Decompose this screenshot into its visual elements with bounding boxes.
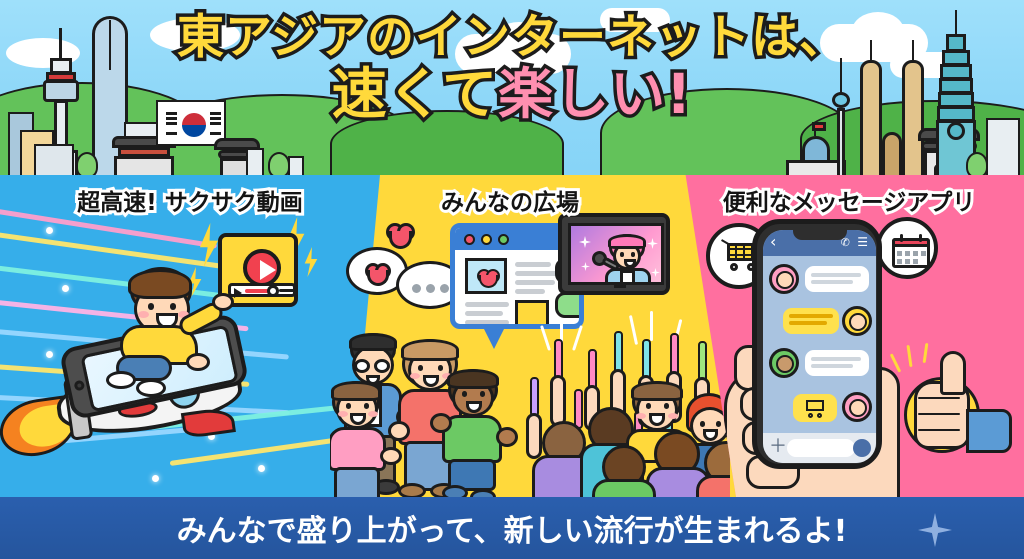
- send-icon[interactable]: [853, 439, 871, 457]
- chat-message-bubble[interactable]: [783, 308, 839, 334]
- boy-hand: [212, 293, 234, 311]
- boy-hand: [186, 353, 210, 371]
- tv-icon[interactable]: [558, 213, 670, 295]
- sparkle-icon: [581, 262, 590, 271]
- sleeve: [966, 409, 1012, 453]
- shopping-cart-icon: [803, 400, 827, 418]
- sparkle-ray: [540, 325, 551, 351]
- chat-avatar[interactable]: [769, 264, 799, 294]
- panel-3-heading: 便利なメッセージアプリ: [674, 183, 1024, 217]
- title-line-1: 東アジアのインターネットは、: [0, 14, 1024, 62]
- glasses-icon: [354, 359, 370, 373]
- heart-icon: [386, 223, 416, 251]
- window-dot-red[interactable]: [464, 234, 475, 245]
- office-building: [34, 144, 74, 178]
- chat-input[interactable]: [787, 439, 855, 457]
- footer-text: みんなで盛り上がって、新しい流行が生まれるよ!: [177, 506, 848, 550]
- menu-icon[interactable]: ☰: [857, 235, 868, 249]
- play-button-icon[interactable]: [243, 249, 281, 287]
- window-dot-green[interactable]: [498, 234, 509, 245]
- office-building: [986, 118, 1020, 178]
- kids-group: [330, 325, 530, 497]
- sparkle-dot: [258, 465, 265, 472]
- tv-screen: [568, 223, 664, 285]
- glow-stick-icon: [530, 377, 539, 417]
- fan-body: [696, 475, 730, 497]
- chat-message-bubble[interactable]: [805, 350, 869, 376]
- chat-cart-bubble[interactable]: [793, 394, 837, 422]
- lightning-bolt-icon: [302, 247, 320, 277]
- chat-composer[interactable]: ＋: [763, 433, 876, 463]
- video-progress-bar[interactable]: [228, 283, 296, 297]
- chat-avatar[interactable]: [769, 348, 799, 378]
- fan-crowd: [526, 315, 730, 497]
- boy-character: [112, 267, 232, 377]
- fan-body: [592, 479, 656, 497]
- kid-green: [442, 369, 526, 497]
- panel-everyones-plaza[interactable]: みんなの広場: [330, 175, 730, 497]
- sparkle-ray: [629, 315, 638, 345]
- glasses-icon: [374, 359, 390, 373]
- poster-title: 東アジアのインターネットは、 速くて楽しい!: [0, 14, 1024, 122]
- sparkle-dot: [62, 285, 69, 292]
- window-dot-yellow[interactable]: [481, 234, 492, 245]
- chat-avatar[interactable]: [842, 392, 872, 422]
- sparkle-dot: [152, 475, 159, 482]
- rocket-fin: [181, 406, 236, 439]
- boy-hair: [128, 269, 192, 299]
- idol-character: [605, 234, 655, 285]
- office-building: [246, 148, 264, 178]
- chat-screen: ‹ ✆ ☰: [763, 230, 876, 463]
- chat-message-bubble[interactable]: [805, 266, 869, 292]
- glow-stick-icon: [574, 389, 583, 429]
- back-arrow-icon[interactable]: ‹: [770, 233, 776, 251]
- sparkle-ray: [572, 325, 583, 351]
- sparkle-ray: [906, 345, 912, 367]
- title-line-2-yellow: 速くて: [332, 62, 498, 126]
- title-line-2-pink: 楽しい!: [498, 62, 692, 126]
- panel-row: 超高速! サクサク動画: [0, 175, 1024, 497]
- post-image: [465, 258, 507, 294]
- sparkle-ray: [650, 311, 653, 341]
- thumb: [940, 351, 966, 395]
- footer-banner: みんなで盛り上がって、新しい流行が生まれるよ!: [0, 497, 1024, 559]
- thumbs-up-icon: [900, 347, 1010, 497]
- boy-shoe: [136, 379, 166, 397]
- sparkle-dot: [46, 227, 53, 234]
- sparkle-ray: [923, 343, 929, 363]
- panel-1-heading: 超高速! サクサク動画: [0, 183, 380, 217]
- boy-shoe: [106, 371, 136, 389]
- title-line-2: 速くて楽しい!: [0, 66, 1024, 122]
- plus-icon[interactable]: ＋: [769, 437, 787, 457]
- chat-avatar[interactable]: [842, 306, 872, 336]
- chat-smartphone[interactable]: ‹ ✆ ☰: [752, 219, 882, 469]
- idol-hair: [608, 234, 646, 249]
- calendar-icon: [892, 234, 930, 268]
- sparkle-icon: [579, 236, 591, 248]
- poster-canvas: 東アジアのインターネットは、 速くて楽しい! 超高速! サク: [0, 0, 1024, 559]
- panel-speed-video[interactable]: 超高速! サクサク動画: [0, 175, 380, 497]
- panel-2-heading: みんなの広場: [350, 183, 670, 217]
- sparkle-icon: [918, 513, 952, 547]
